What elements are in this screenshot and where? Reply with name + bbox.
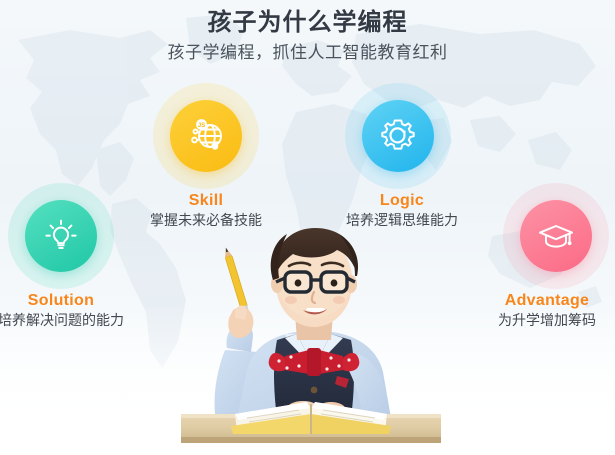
advantage-name: Advantage	[467, 291, 615, 310]
advantage-text-block: Advantage 为升学增加筹码	[467, 291, 615, 330]
svg-text:JS: JS	[198, 122, 206, 129]
advantage-desc: 为升学增加筹码	[467, 310, 615, 330]
gear-icon	[378, 116, 418, 156]
promo-banner: 孩子为什么学编程 孩子学编程，抓住人工智能教育红利 JS	[0, 0, 615, 455]
globe-network-icon: JS	[185, 115, 227, 157]
solution-text-block: Solution 培养解决问题的能力	[0, 291, 141, 330]
graduation-cap-icon	[535, 215, 577, 257]
logic-name: Logic	[322, 191, 482, 210]
solution-name: Solution	[0, 291, 141, 310]
solution-desc: 培养解决问题的能力	[0, 310, 141, 330]
advantage-icon-circle[interactable]	[520, 200, 592, 272]
boy-studying-photo	[181, 218, 441, 455]
lightbulb-icon	[41, 216, 81, 256]
page-title: 孩子为什么学编程	[0, 2, 615, 37]
logic-icon-circle[interactable]	[362, 100, 434, 172]
skill-icon-circle[interactable]: JS	[170, 100, 242, 172]
skill-name: Skill	[126, 191, 286, 210]
solution-icon-circle[interactable]	[25, 200, 97, 272]
page-subtitle: 孩子学编程，抓住人工智能教育红利	[0, 38, 615, 63]
